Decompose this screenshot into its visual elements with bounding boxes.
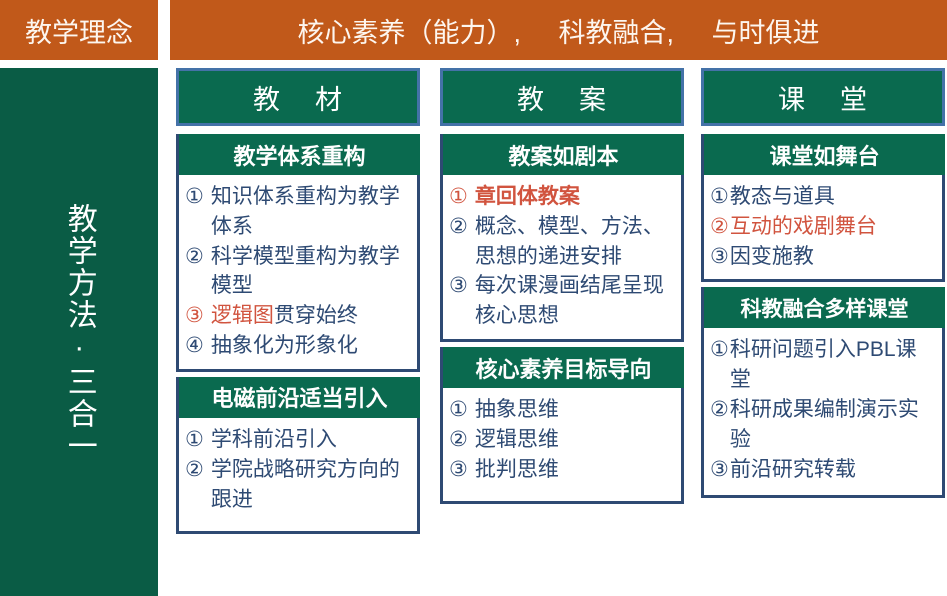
list-item: ① 教态与道具 [710, 182, 936, 212]
panel-band: 科教融合多样课堂 [701, 287, 945, 328]
header-right-box: 核心素养（能力）, 科教融合, 与时俱进 [170, 0, 947, 60]
item-number: ② [185, 242, 204, 272]
column-title-box: 教 案 [440, 68, 684, 126]
panel-band: 教案如剧本 [440, 134, 684, 175]
item-number: ③ [710, 455, 729, 485]
item-number: ① [710, 335, 729, 365]
item-text: 教态与道具 [730, 182, 936, 212]
column-title: 教 案 [517, 78, 607, 117]
panel: 教学体系重构 ① 知识体系重构为教学体系 ② 科学模型重构为教学模型 ③ 逻辑图… [176, 134, 420, 372]
item-number: ③ [449, 455, 468, 485]
slide-root: 教学理念 核心素养（能力）, 科教融合, 与时俱进 教学方法·三合一 教 材 教… [0, 0, 947, 596]
item-number: ② [185, 455, 204, 485]
item-list: ① 抽象思维 ② 逻辑思维 ③ 批判思维 [449, 395, 675, 484]
panel-band: 课堂如舞台 [701, 134, 945, 175]
item-text: 学院战略研究方向的跟进 [211, 455, 411, 515]
list-item: ① 抽象思维 [449, 395, 675, 425]
item-text: 概念、模型、方法、思想的递进安排 [475, 212, 675, 272]
item-list: ① 学科前沿引入 ② 学院战略研究方向的跟进 [185, 425, 411, 514]
panel-band-label: 教案如剧本 [508, 139, 618, 171]
item-number: ③ [185, 301, 204, 331]
list-item: ① 章回体教案 [449, 182, 675, 212]
panel: 课堂如舞台 ① 教态与道具 ② 互动的戏剧舞台 ③ 因变施教 [701, 134, 945, 282]
list-item: ② 科学模型重构为教学模型 [185, 242, 411, 302]
item-list: ① 教态与道具 ② 互动的戏剧舞台 ③ 因变施教 [710, 182, 936, 271]
item-number: ① [710, 182, 729, 212]
panel-band-label: 核心素养目标导向 [475, 352, 651, 384]
list-item: ① 科研问题引入PBL课堂 [710, 335, 936, 395]
panel-body: ① 科研问题引入PBL课堂 ② 科研成果编制演示实验 ③ 前沿研究转载 [701, 328, 945, 498]
panel-band-label: 科教融合多样课堂 [741, 293, 909, 323]
panel-band-label: 电磁前沿适当引入 [211, 381, 387, 413]
list-item: ② 逻辑思维 [449, 425, 675, 455]
item-list: ① 章回体教案 ② 概念、模型、方法、思想的递进安排 ③ 每次课漫画结尾呈现核心… [449, 182, 675, 331]
panel-body: ① 学科前沿引入 ② 学院战略研究方向的跟进 [176, 418, 420, 534]
item-number: ① [449, 182, 468, 212]
column-classroom: 课 堂 课堂如舞台 ① 教态与道具 ② 互动的戏剧舞台 ③ [701, 68, 945, 503]
list-item: ② 学院战略研究方向的跟进 [185, 455, 411, 515]
column-title: 教 材 [253, 78, 343, 117]
panel-band: 电磁前沿适当引入 [176, 377, 420, 418]
item-text: 知识体系重构为教学体系 [211, 182, 411, 242]
panel: 科教融合多样课堂 ① 科研问题引入PBL课堂 ② 科研成果编制演示实验 ③ 前沿… [701, 287, 945, 498]
list-item: ① 知识体系重构为教学体系 [185, 182, 411, 242]
list-item: ③ 前沿研究转载 [710, 455, 936, 485]
item-text-rest: 贯穿始终 [274, 304, 358, 327]
header-left-box: 教学理念 [0, 0, 158, 60]
item-number: ② [449, 425, 468, 455]
sidebar: 教学方法·三合一 [0, 68, 158, 596]
item-text: 前沿研究转载 [730, 455, 936, 485]
panel: 教案如剧本 ① 章回体教案 ② 概念、模型、方法、思想的递进安排 ③ 每次课漫画… [440, 134, 684, 342]
item-highlight: 逻辑图 [211, 304, 274, 327]
item-list: ① 知识体系重构为教学体系 ② 科学模型重构为教学模型 ③ 逻辑图贯穿始终 ④ … [185, 182, 411, 361]
header-right-label: 核心素养（能力）, 科教融合, 与时俱进 [297, 11, 819, 50]
list-item: ④ 抽象化为形象化 [185, 331, 411, 361]
item-number: ④ [185, 331, 204, 361]
item-number: ① [185, 182, 204, 212]
list-item: ② 概念、模型、方法、思想的递进安排 [449, 212, 675, 272]
item-number: ② [710, 395, 729, 425]
list-item: ③ 因变施教 [710, 242, 936, 272]
item-text: 互动的戏剧舞台 [730, 212, 936, 242]
list-item: ② 互动的戏剧舞台 [710, 212, 936, 242]
item-text: 逻辑图贯穿始终 [211, 301, 411, 331]
item-text: 抽象化为形象化 [211, 331, 411, 361]
panel-band: 教学体系重构 [176, 134, 420, 175]
column-title: 课 堂 [778, 78, 868, 117]
column-lesson-plan: 教 案 教案如剧本 ① 章回体教案 ② 概念、模型、方法、思想的递进安排 [440, 68, 684, 509]
panel-band: 核心素养目标导向 [440, 347, 684, 388]
list-item: ② 科研成果编制演示实验 [710, 395, 936, 455]
panel-body: ① 章回体教案 ② 概念、模型、方法、思想的递进安排 ③ 每次课漫画结尾呈现核心… [440, 175, 684, 342]
list-item: ③ 批判思维 [449, 455, 675, 485]
column-textbook: 教 材 教学体系重构 ① 知识体系重构为教学体系 ② 科学模型重构为教学模型 [176, 68, 420, 539]
item-number: ③ [710, 242, 729, 272]
item-text: 逻辑思维 [475, 425, 675, 455]
list-item: ① 学科前沿引入 [185, 425, 411, 455]
panel: 电磁前沿适当引入 ① 学科前沿引入 ② 学院战略研究方向的跟进 [176, 377, 420, 534]
item-text: 批判思维 [475, 455, 675, 485]
panel-band-label: 课堂如舞台 [769, 139, 879, 171]
panel: 核心素养目标导向 ① 抽象思维 ② 逻辑思维 ③ 批判思维 [440, 347, 684, 504]
item-number: ② [710, 212, 729, 242]
item-number: ① [449, 395, 468, 425]
item-number: ③ [449, 271, 468, 301]
item-list: ① 科研问题引入PBL课堂 ② 科研成果编制演示实验 ③ 前沿研究转载 [710, 335, 936, 484]
column-title-box: 课 堂 [701, 68, 945, 126]
item-text: 每次课漫画结尾呈现核心思想 [475, 271, 675, 331]
item-text: 学科前沿引入 [211, 425, 411, 455]
header-left-label: 教学理念 [25, 11, 133, 50]
sidebar-vertical-label: 教学方法·三合一 [59, 203, 99, 462]
item-text: 科研成果编制演示实验 [730, 395, 936, 455]
item-text: 科学模型重构为教学模型 [211, 242, 411, 302]
item-number: ② [449, 212, 468, 242]
panel-band-label: 教学体系重构 [233, 139, 365, 171]
list-item: ③ 每次课漫画结尾呈现核心思想 [449, 271, 675, 331]
panel-body: ① 教态与道具 ② 互动的戏剧舞台 ③ 因变施教 [701, 175, 945, 282]
item-text: 因变施教 [730, 242, 936, 272]
panel-body: ① 知识体系重构为教学体系 ② 科学模型重构为教学模型 ③ 逻辑图贯穿始终 ④ … [176, 175, 420, 372]
list-item: ③ 逻辑图贯穿始终 [185, 301, 411, 331]
column-title-box: 教 材 [176, 68, 420, 126]
item-text: 科研问题引入PBL课堂 [730, 335, 936, 395]
item-text: 抽象思维 [475, 395, 675, 425]
panel-body: ① 抽象思维 ② 逻辑思维 ③ 批判思维 [440, 388, 684, 504]
item-text: 章回体教案 [475, 182, 675, 212]
item-number: ① [185, 425, 204, 455]
